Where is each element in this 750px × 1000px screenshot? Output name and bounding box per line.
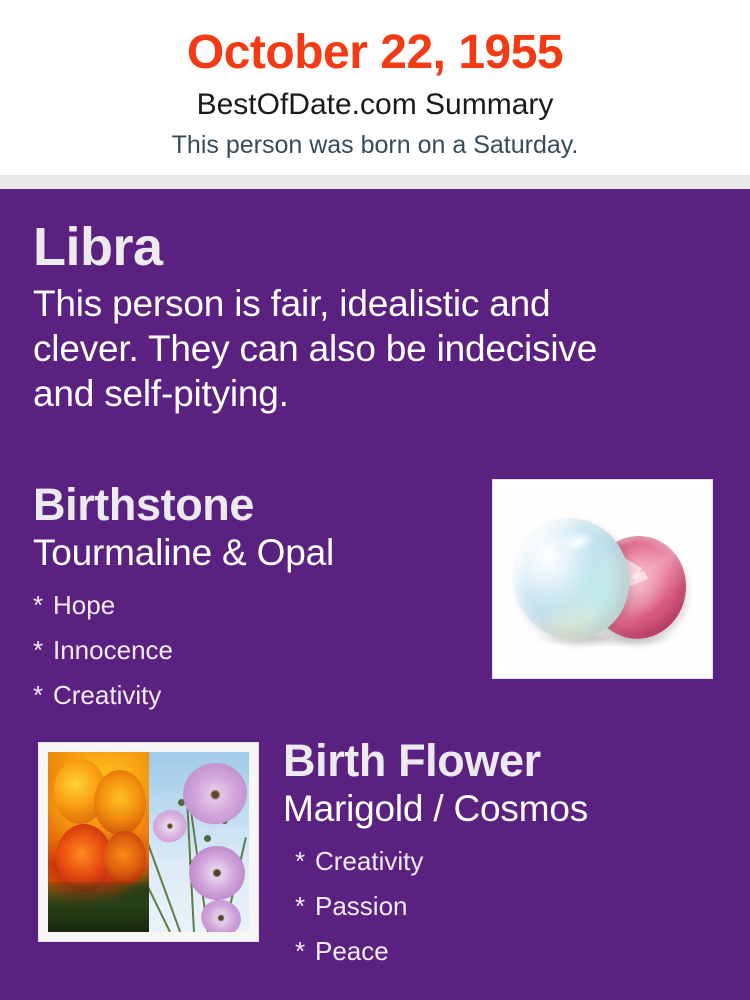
birth-flower-image xyxy=(38,742,259,942)
marigold-photo xyxy=(48,752,149,932)
zodiac-sign-title: Libra xyxy=(33,216,633,278)
birthstone-trait-label: Creativity xyxy=(53,680,161,710)
cosmos-photo xyxy=(149,752,250,932)
birth-flower-section: Birth Flower Marigold / Cosmos *Creativi… xyxy=(283,734,703,974)
birth-flower-heading: Birth Flower xyxy=(283,734,703,787)
bullet-star-icon: * xyxy=(33,583,53,628)
birthstone-heading: Birthstone xyxy=(33,478,473,531)
details-panel: Libra This person is fair, idealistic an… xyxy=(0,189,750,1000)
list-item: *Innocence xyxy=(33,628,473,673)
birth-flower-name: Marigold / Cosmos xyxy=(283,787,703,831)
cosmos-bloom xyxy=(185,842,249,904)
bullet-star-icon: * xyxy=(33,673,53,718)
birthstone-trait-label: Hope xyxy=(53,590,115,620)
summary-card: October 22, 1955 BestOfDate.com Summary … xyxy=(0,0,750,1000)
bullet-star-icon: * xyxy=(33,628,53,673)
list-item: *Creativity xyxy=(295,839,703,884)
birth-flower-trait-label: Passion xyxy=(315,891,408,921)
bullet-star-icon: * xyxy=(295,839,315,884)
birth-flower-image-canvas xyxy=(48,752,249,932)
birthstone-name: Tourmaline & Opal xyxy=(33,531,473,575)
bullet-star-icon: * xyxy=(295,884,315,929)
birthstone-trait-list: *Hope *Innocence *Creativity xyxy=(33,583,473,718)
birthstone-image xyxy=(492,479,713,679)
card-header: October 22, 1955 BestOfDate.com Summary … xyxy=(0,0,750,175)
birth-flower-trait-label: Creativity xyxy=(315,846,423,876)
zodiac-section: Libra This person is fair, idealistic an… xyxy=(33,216,633,416)
birth-flower-trait-label: Peace xyxy=(315,936,389,966)
list-item: *Peace xyxy=(295,929,703,974)
birthstone-image-canvas xyxy=(502,489,703,669)
birthstone-section: Birthstone Tourmaline & Opal *Hope *Inno… xyxy=(33,478,473,718)
marigold-foliage xyxy=(48,882,149,932)
day-of-week-line: This person was born on a Saturday. xyxy=(0,129,750,161)
list-item: *Creativity xyxy=(33,673,473,718)
birth-flower-trait-list: *Creativity *Passion *Peace xyxy=(295,839,703,974)
zodiac-description: This person is fair, idealistic and clev… xyxy=(33,281,633,416)
list-item: *Hope xyxy=(33,583,473,628)
cosmos-stem xyxy=(149,827,181,932)
marigold-bloom xyxy=(94,770,146,835)
site-summary-label: BestOfDate.com Summary xyxy=(0,87,750,123)
list-item: *Passion xyxy=(295,884,703,929)
header-divider xyxy=(0,175,750,189)
birthstone-trait-label: Innocence xyxy=(53,635,173,665)
bullet-star-icon: * xyxy=(295,929,315,974)
page-title-date: October 22, 1955 xyxy=(0,24,750,82)
marigold-bloom xyxy=(104,831,146,885)
cosmos-bud xyxy=(204,835,211,842)
